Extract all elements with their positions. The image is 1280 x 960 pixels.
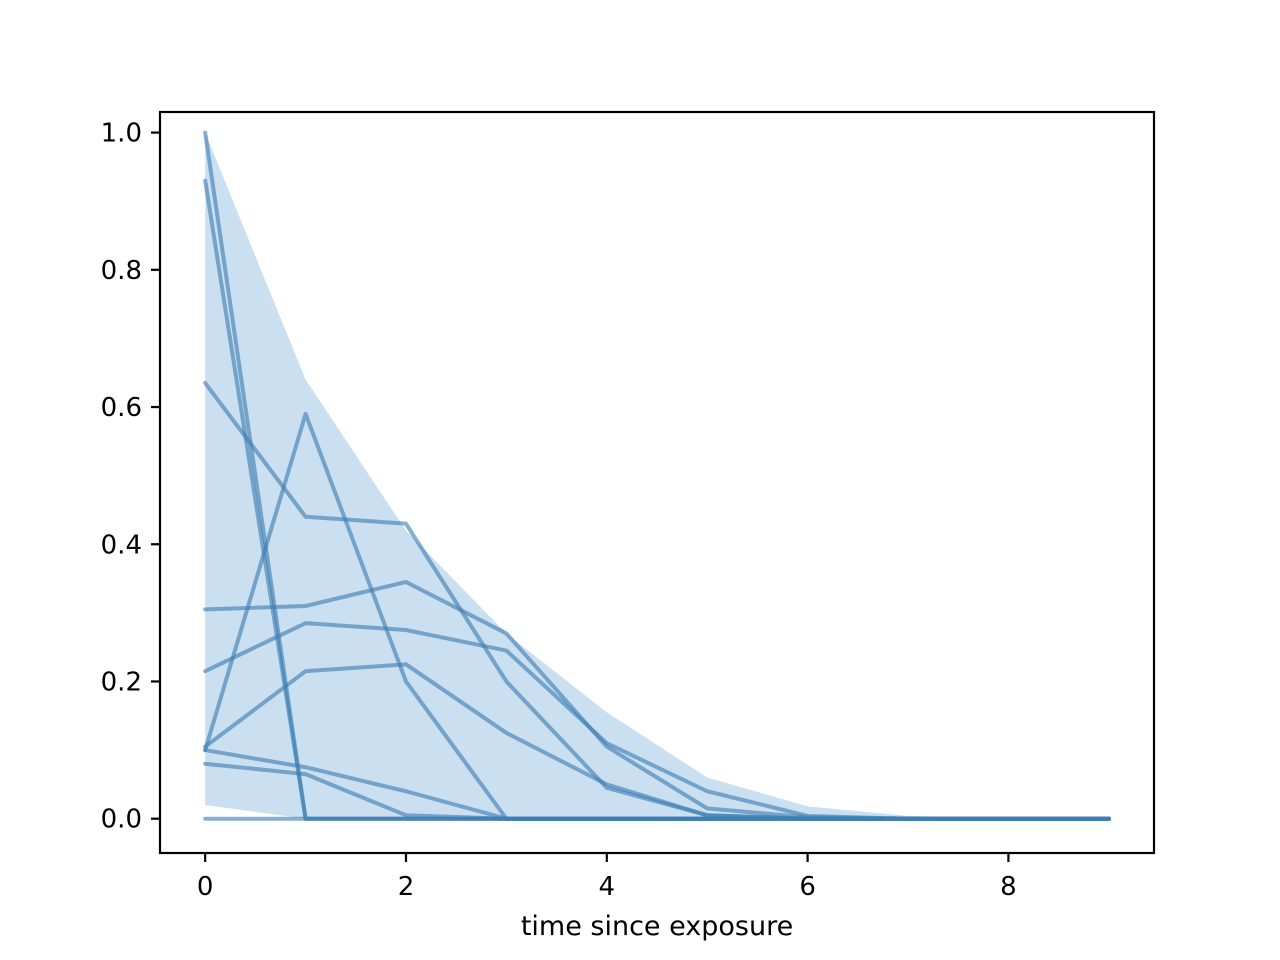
x-tick-label: 2 [398, 872, 415, 902]
x-tick-label: 0 [197, 872, 214, 902]
y-axis-ticks: 0.00.20.40.60.81.0 [101, 119, 160, 835]
y-tick-label: 0.6 [101, 393, 142, 423]
x-axis-title: time since exposure [521, 911, 793, 942]
y-tick-label: 0.2 [101, 667, 142, 697]
y-tick-label: 0.4 [101, 530, 142, 560]
y-tick-label: 0.8 [101, 256, 142, 286]
figure-canvas: 02468 0.00.20.40.60.81.0 time since expo… [0, 0, 1280, 960]
y-tick-label: 0.0 [101, 805, 142, 835]
x-tick-label: 6 [799, 872, 816, 902]
y-tick-label: 1.0 [101, 119, 142, 149]
x-axis-ticks: 02468 [197, 853, 1017, 902]
x-tick-label: 8 [1000, 872, 1017, 902]
line-chart: 02468 0.00.20.40.60.81.0 time since expo… [0, 0, 1280, 960]
x-tick-label: 4 [599, 872, 616, 902]
